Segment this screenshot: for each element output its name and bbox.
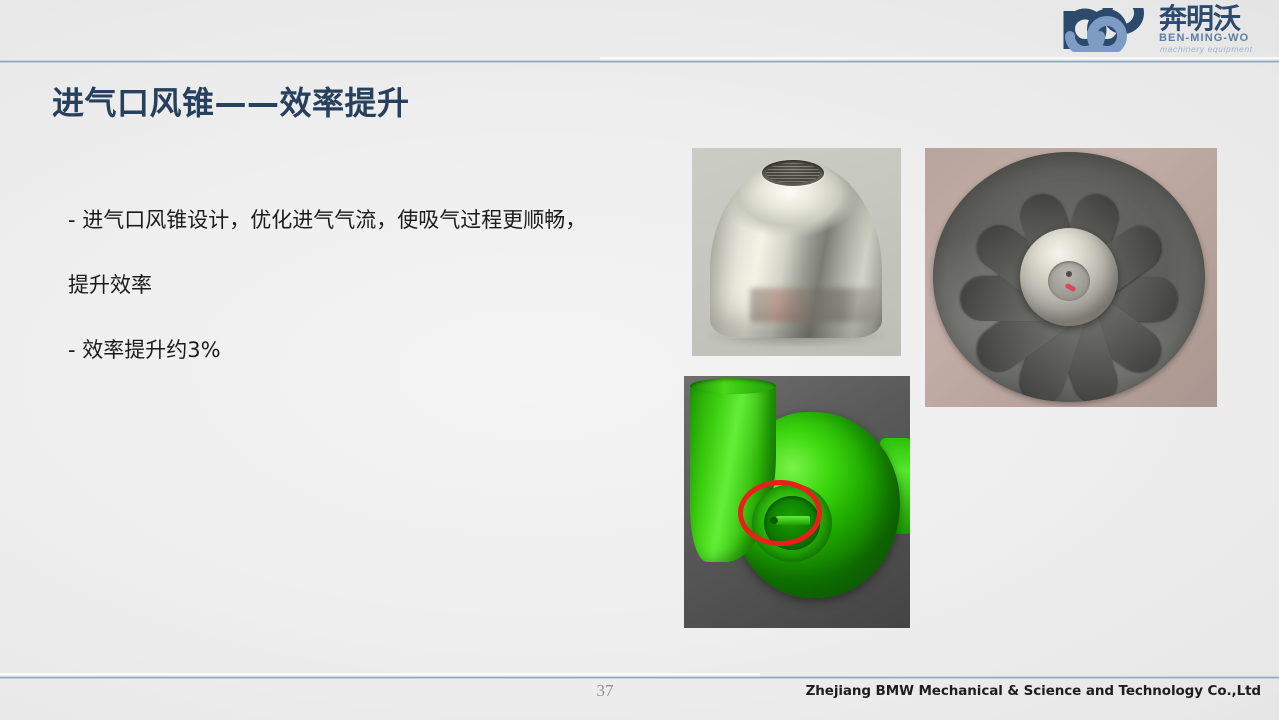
cone-surface-reflection: [750, 288, 878, 322]
red-highlight-annotation: [738, 480, 822, 546]
footer-divider: [0, 676, 1279, 679]
page-number: 37: [560, 681, 650, 701]
hub-bore: [1048, 261, 1090, 301]
logo-chinese-name: 奔明沃: [1159, 4, 1240, 34]
logo-tagline: machinery equipment: [1160, 44, 1253, 54]
footer-company-name: Zhejiang BMW Mechanical & Science and Te…: [806, 683, 1261, 699]
bullet-item-2: - 效率提升约3%: [68, 318, 608, 383]
page-title: 进气口风锥——效率提升: [52, 78, 410, 124]
company-logo: 奔明沃 BEN-MING-WO machinery equipment: [1055, 4, 1267, 56]
blower-cad-render: [684, 376, 910, 628]
bullet-item-1: - 进气口风锥设计，优化进气气流，使吸气过程更顺畅，提升效率: [68, 188, 588, 318]
inlet-cone-photo: [692, 148, 901, 356]
impeller-hub-cone: [1020, 228, 1118, 326]
logo-english-name: BEN-MING-WO: [1159, 32, 1249, 44]
impeller-disc: [933, 152, 1205, 402]
slide: 奔明沃 BEN-MING-WO machinery equipment 进气口风…: [0, 0, 1279, 720]
inlet-duct-flange: [690, 378, 776, 394]
bo-monogram-icon: [1063, 8, 1155, 52]
impeller-photo: [925, 148, 1217, 407]
header-divider: [0, 60, 1279, 63]
thread-texture: [766, 163, 820, 183]
cone-threaded-hole: [762, 160, 824, 186]
body-text-block: - 进气口风锥设计，优化进气气流，使吸气过程更顺畅，提升效率 - 效率提升约3%: [68, 188, 608, 383]
